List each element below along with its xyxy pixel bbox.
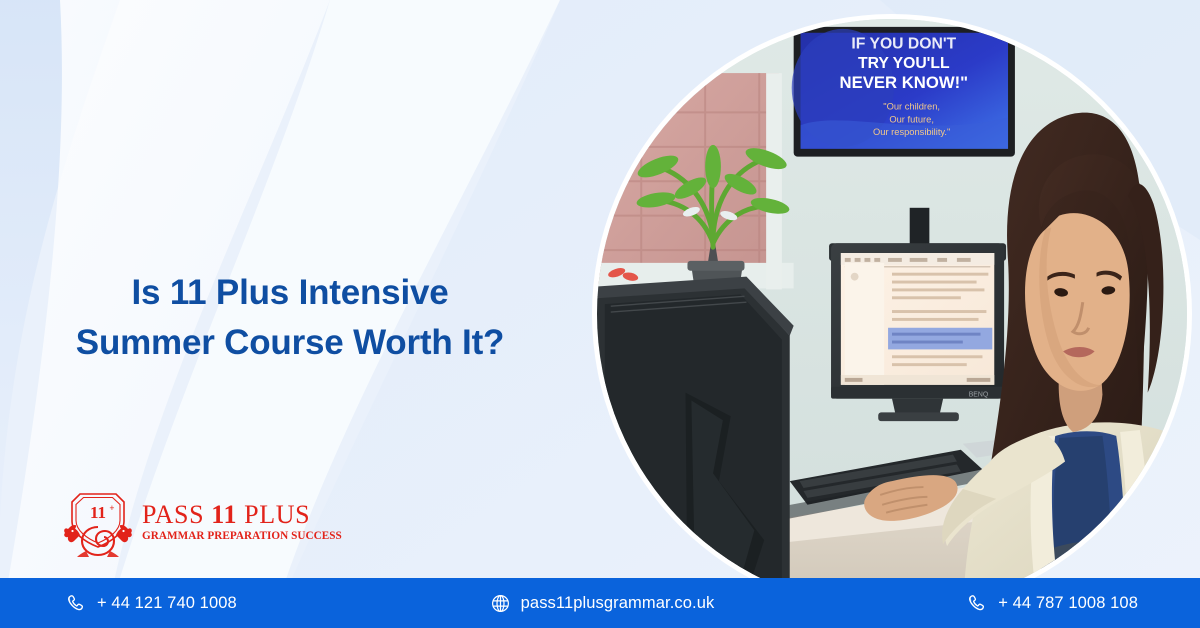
headline-line-1: Is 11 Plus Intensive <box>132 273 449 312</box>
brand-logo[interactable]: 11 + PASS 1 <box>62 487 342 557</box>
svg-text:"Our children,: "Our children, <box>883 101 940 111</box>
globe-icon <box>490 593 511 614</box>
footer-phone-secondary-label: + 44 787 1008 108 <box>998 594 1138 613</box>
svg-text:BENQ: BENQ <box>969 392 989 399</box>
brand-tagline: GRAMMAR PREPARATION SUCCESS <box>142 531 342 542</box>
footer-phone-primary-label: + 44 121 740 1008 <box>97 594 237 613</box>
phone-icon <box>967 593 988 614</box>
hero-photo: IF YOU DON'T TRY YOU'LL NEVER KNOW!" "Ou… <box>597 19 1187 609</box>
svg-text:+: + <box>109 503 114 513</box>
page-title: Is 11 Plus Intensive Summer Course Worth… <box>0 268 580 369</box>
brand-name-number: 11 <box>211 500 237 529</box>
hero-photo-frame: IF YOU DON'T TRY YOU'LL NEVER KNOW!" "Ou… <box>592 14 1192 614</box>
contact-footer: + 44 121 740 1008 pass11plusgrammar.co.u… <box>0 578 1200 628</box>
svg-text:NEVER KNOW!": NEVER KNOW!" <box>840 73 969 92</box>
brand-wordmark: PASS 11 PLUS GRAMMAR PREPARATION SUCCESS <box>142 502 342 542</box>
svg-text:Our future,: Our future, <box>889 114 934 124</box>
promo-banner: Is 11 Plus Intensive Summer Course Worth… <box>0 0 1200 628</box>
brand-name-prefix: PASS <box>142 500 211 529</box>
shield-11-plus-lions-rose-crest-icon: 11 + <box>62 487 134 557</box>
svg-text:11: 11 <box>90 503 106 522</box>
brand-name: PASS 11 PLUS <box>142 502 342 528</box>
svg-text:TRY YOU'LL: TRY YOU'LL <box>858 55 950 72</box>
phone-icon <box>66 593 87 614</box>
footer-website[interactable]: pass11plusgrammar.co.uk <box>423 593 780 614</box>
footer-website-label: pass11plusgrammar.co.uk <box>521 594 715 613</box>
svg-text:IF YOU DON'T: IF YOU DON'T <box>851 36 956 53</box>
svg-text:Our responsibility.": Our responsibility." <box>873 127 950 137</box>
footer-phone-secondary[interactable]: + 44 787 1008 108 <box>781 593 1200 614</box>
office-scene-illustration: IF YOU DON'T TRY YOU'LL NEVER KNOW!" "Ou… <box>597 19 1187 609</box>
footer-phone-primary[interactable]: + 44 121 740 1008 <box>0 593 423 614</box>
headline-line-2: Summer Course Worth It? <box>0 318 580 368</box>
brand-name-suffix: PLUS <box>237 500 310 529</box>
